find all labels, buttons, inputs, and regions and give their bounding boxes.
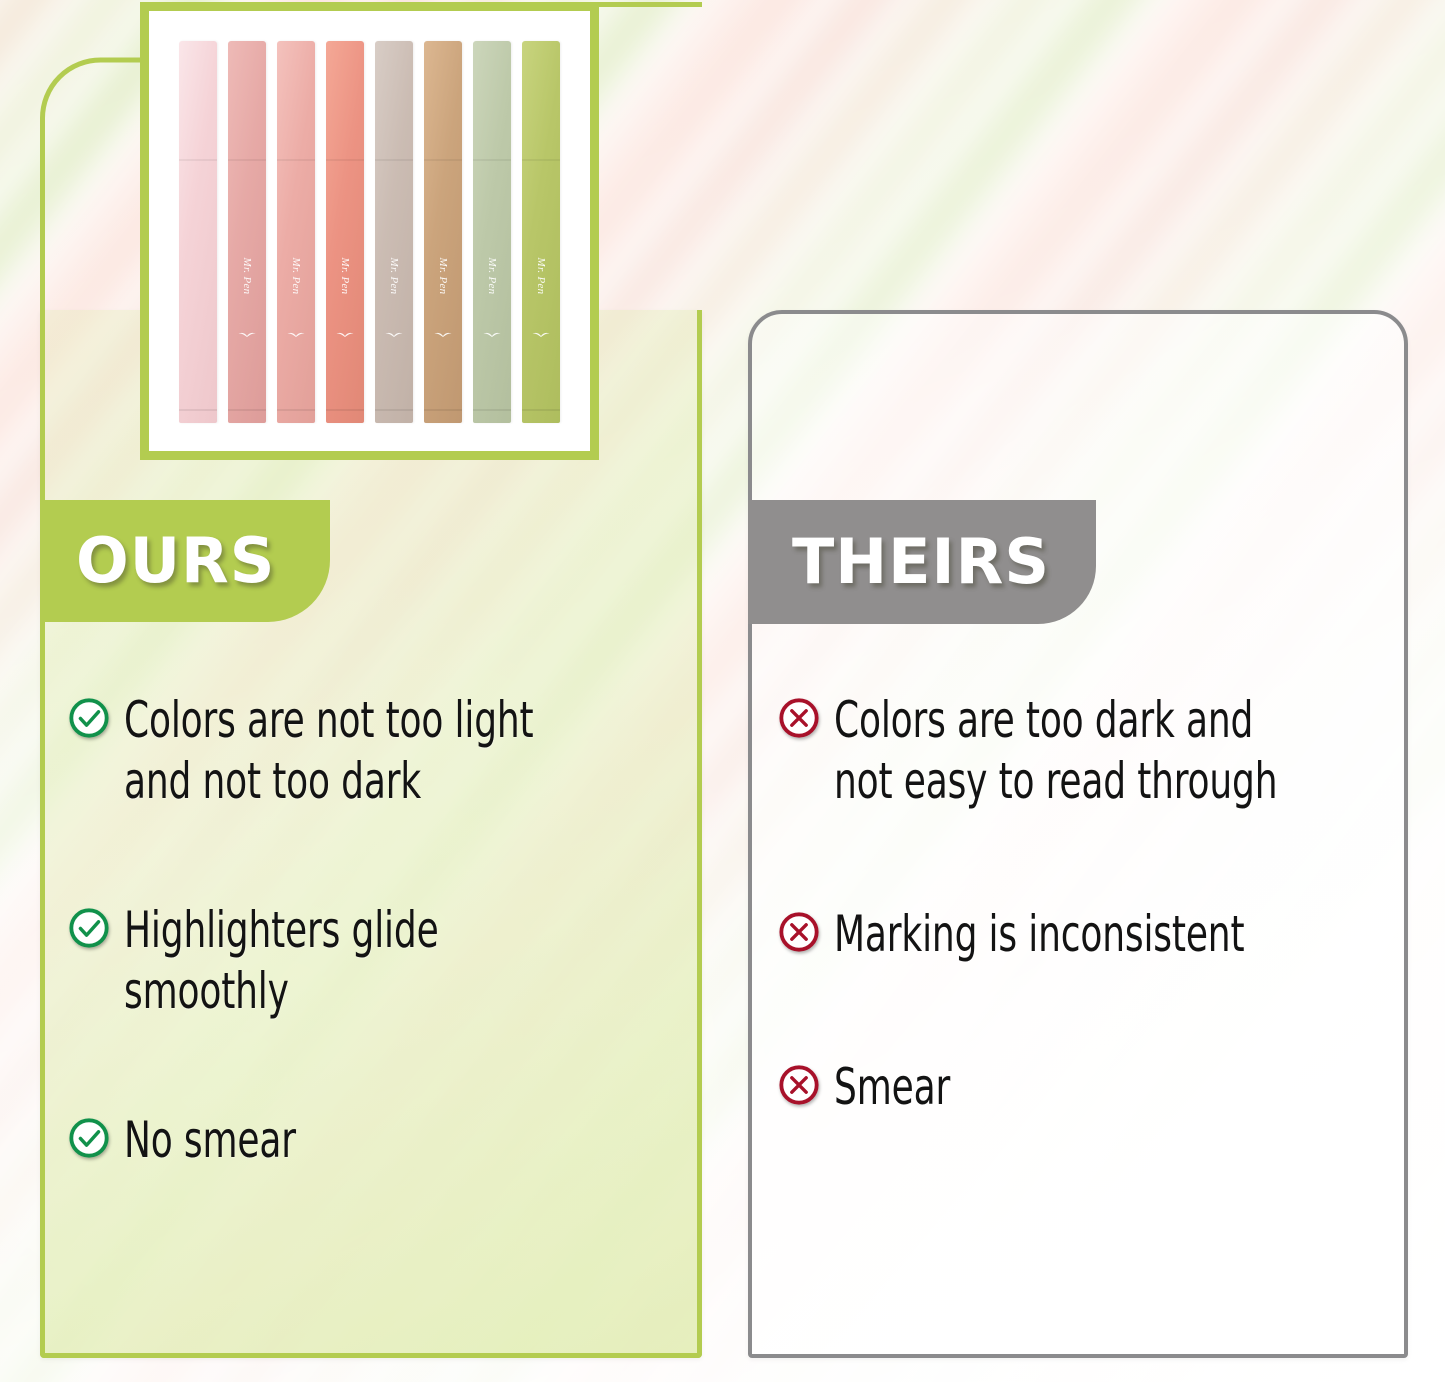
pen-foot-seam — [228, 409, 266, 411]
highlighter-pen-7: Mr. Pen — [473, 41, 511, 423]
pen-cap-seam — [473, 159, 511, 161]
mustache-logo-icon — [433, 331, 453, 340]
mustache-logo-icon — [286, 331, 306, 340]
highlighter-pen-4: Mr. Pen — [326, 41, 364, 423]
mustache-logo-icon — [335, 331, 355, 340]
ours-header-label: OURS — [76, 530, 275, 592]
pen-cap-seam — [375, 159, 413, 161]
pen-brand-text: Mr. Pen — [290, 258, 302, 295]
list-item-label: No smear — [124, 1110, 575, 1171]
x-circle-icon — [778, 697, 820, 739]
list-item-label: Smear — [834, 1057, 1285, 1118]
list-item: Smear — [778, 1057, 1398, 1118]
pen-foot-seam — [179, 409, 217, 411]
pen-foot-seam — [326, 409, 364, 411]
ours-feature-list: Colors are not too light and not too dar… — [68, 690, 688, 1259]
highlighter-pen-6: Mr. Pen — [424, 41, 462, 423]
mustache-logo-icon — [482, 331, 502, 340]
pen-brand-text: Mr. Pen — [241, 258, 253, 295]
pen-foot-seam — [424, 409, 462, 411]
x-circle-icon — [778, 911, 820, 953]
list-item-label: Highlighters glide smoothly — [124, 900, 575, 1022]
pen-brand-text: Mr. Pen — [535, 258, 547, 295]
pen-foot-seam — [277, 409, 315, 411]
pen-brand-text: Mr. Pen — [388, 258, 400, 295]
pen-cap-seam — [179, 159, 217, 161]
theirs-header-label: THEIRS — [792, 531, 1050, 593]
theirs-feature-list: Colors are too dark and not easy to read… — [778, 690, 1398, 1210]
highlighter-pen-5: Mr. Pen — [375, 41, 413, 423]
comparison-infographic: Mr. Pen Mr. Pen Mr. Pen — [0, 0, 1445, 1382]
highlighter-pen-8: Mr. Pen — [522, 41, 560, 423]
pen-brand-text: Mr. Pen — [486, 258, 498, 295]
pen-brand-text: Mr. Pen — [437, 258, 449, 295]
check-circle-icon — [68, 697, 110, 739]
list-item: Colors are too dark and not easy to read… — [778, 690, 1398, 812]
highlighter-pen-1 — [179, 41, 217, 423]
list-item-label: Colors are too dark and not easy to read… — [834, 690, 1285, 812]
pen-cap-seam — [326, 159, 364, 161]
list-item-label: Colors are not too light and not too dar… — [124, 690, 575, 812]
pen-cap-seam — [522, 159, 560, 161]
pen-cap-seam — [424, 159, 462, 161]
mustache-logo-icon — [384, 331, 404, 340]
theirs-header-tab: THEIRS — [748, 500, 1096, 624]
pen-brand-text: Mr. Pen — [339, 258, 351, 295]
pen-foot-seam — [522, 409, 560, 411]
pen-foot-seam — [375, 409, 413, 411]
check-circle-icon — [68, 1117, 110, 1159]
pen-cap-seam — [277, 159, 315, 161]
list-item: No smear — [68, 1110, 688, 1171]
list-item: Highlighters glide smoothly — [68, 900, 688, 1022]
highlighter-pen-row: Mr. Pen Mr. Pen Mr. Pen — [149, 41, 590, 423]
ours-header-tab: OURS — [40, 500, 330, 622]
list-item: Colors are not too light and not too dar… — [68, 690, 688, 812]
highlighter-pen-2: Mr. Pen — [228, 41, 266, 423]
pen-cap-seam — [228, 159, 266, 161]
list-item-label: Marking is inconsistent — [834, 904, 1285, 965]
highlighter-pen-3: Mr. Pen — [277, 41, 315, 423]
list-item: Marking is inconsistent — [778, 904, 1398, 965]
mustache-logo-icon — [531, 331, 551, 340]
mustache-logo-icon — [237, 331, 257, 340]
check-circle-icon — [68, 907, 110, 949]
x-circle-icon — [778, 1064, 820, 1106]
product-image-inset: Mr. Pen Mr. Pen Mr. Pen — [140, 2, 599, 460]
pen-foot-seam — [473, 409, 511, 411]
